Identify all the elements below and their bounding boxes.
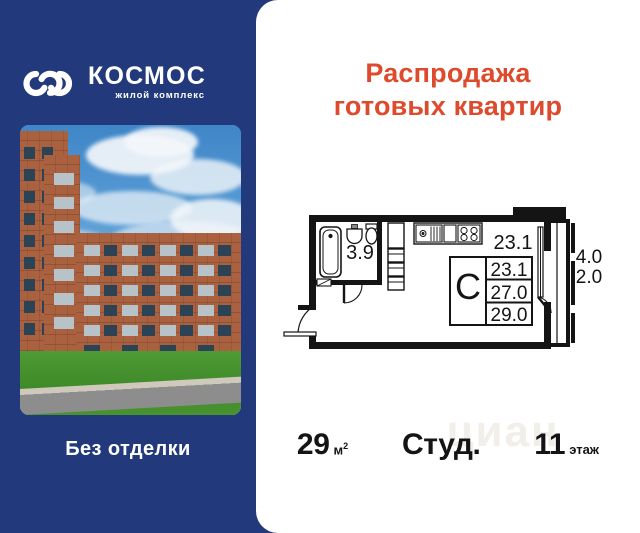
svg-text:23.1: 23.1 (491, 260, 528, 281)
left-brand-panel: КОСМОС жилой комплекс (0, 0, 256, 533)
svg-text:2.0: 2.0 (576, 267, 602, 288)
area-summary: 29 м2 (297, 428, 348, 462)
headline-line-1: Распродажа (365, 58, 530, 88)
building-block (76, 233, 241, 367)
cloud-shape (124, 127, 198, 157)
infinity-loops-icon (20, 64, 78, 102)
floor-value: 11 (534, 428, 565, 462)
headline-line-2: готовых квартир (256, 90, 640, 123)
area-value: 29 (297, 428, 330, 462)
residential-complex-photo (20, 125, 241, 415)
svg-text:29.0: 29.0 (491, 305, 528, 326)
svg-text:С: С (455, 266, 481, 307)
apartment-summary-row: 29 м2 Студ. 11 этаж (256, 428, 640, 474)
finish-type-label: Без отделки (0, 438, 256, 461)
floor-summary: 11 этаж (534, 428, 599, 462)
svg-text:23.1: 23.1 (494, 232, 533, 254)
area-unit: м2 (334, 441, 349, 457)
svg-text:3.9: 3.9 (346, 242, 374, 264)
svg-text:27.0: 27.0 (491, 283, 528, 304)
rooms-summary: Студ. (402, 428, 480, 462)
logo-title: КОСМОС (88, 63, 206, 90)
logo-subtitle: жилой комплекс (88, 90, 206, 102)
cloud-shape (150, 159, 241, 195)
floor-label: этаж (569, 442, 599, 457)
promo-headline: Распродажа готовых квартир (256, 57, 640, 123)
rooms-value: Студ. (402, 428, 480, 462)
svg-text:4.0: 4.0 (576, 247, 602, 268)
apartment-floor-plan: 3.9 23.1 С 23.1 27.0 29.0 4.0 2.0 (276, 197, 616, 367)
brand-logo: КОСМОС жилой комплекс (20, 62, 240, 112)
building-tower (44, 155, 80, 367)
